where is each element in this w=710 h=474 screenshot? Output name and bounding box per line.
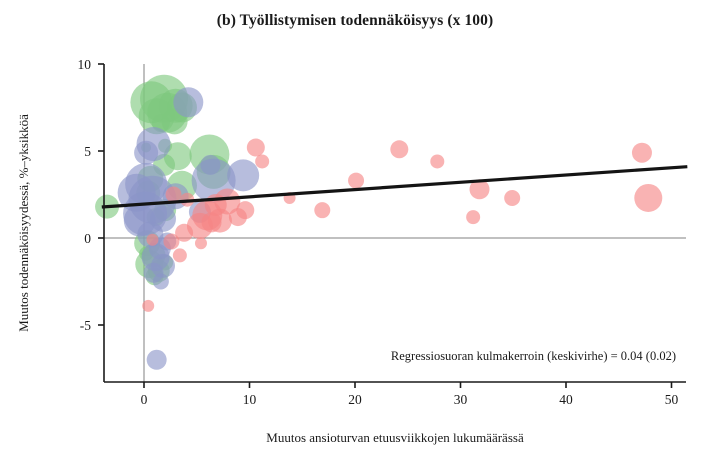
data-point-red xyxy=(146,234,158,246)
regression-annotation: Regressiosuoran kulmakerroin (keskivirhe… xyxy=(391,349,676,363)
data-point-red xyxy=(195,237,207,249)
data-point-red xyxy=(504,190,520,206)
x-tick-label-2: 20 xyxy=(348,392,362,407)
data-point-red xyxy=(229,208,247,226)
data-point-blue xyxy=(153,274,169,290)
data-point-red xyxy=(466,210,480,224)
bubble-layer xyxy=(95,75,662,370)
data-point-red xyxy=(202,212,222,232)
data-point-red xyxy=(348,173,364,189)
x-tick-label-5: 50 xyxy=(665,392,679,407)
data-point-red xyxy=(430,154,444,168)
data-point-blue xyxy=(173,87,203,117)
x-tick-label-3: 30 xyxy=(454,392,468,407)
data-point-red xyxy=(247,139,265,157)
data-point-red xyxy=(173,248,187,262)
x-tick-label-4: 40 xyxy=(559,392,573,407)
data-point-red xyxy=(632,143,652,163)
data-point-blue xyxy=(147,350,167,370)
data-point-red xyxy=(175,224,193,242)
data-point-red xyxy=(634,184,662,212)
y-tick-label-1: 5 xyxy=(84,144,91,159)
y-tick-label-3: -5 xyxy=(80,318,91,333)
data-point-red xyxy=(142,300,154,312)
x-tick-label-0: 0 xyxy=(141,392,148,407)
y-axis-label: Muutos todennäköisyydessä, %–yksikköä xyxy=(16,114,31,332)
data-point-blue xyxy=(134,141,158,165)
y-tick-label-2: 0 xyxy=(84,231,91,246)
data-point-red xyxy=(255,154,269,168)
scatter-plot: 1050-501020304050 Muutos todennäköisyyde… xyxy=(0,0,710,474)
x-tick-label-1: 10 xyxy=(243,392,257,407)
figure-container: (b) Työllistymisen todennäköisyys (x 100… xyxy=(0,0,710,474)
x-axis-label: Muutos ansioturvan etuusviikkojen lukumä… xyxy=(266,430,524,445)
data-point-red xyxy=(390,140,408,158)
y-tick-label-0: 10 xyxy=(78,57,92,72)
data-point-red xyxy=(314,202,330,218)
